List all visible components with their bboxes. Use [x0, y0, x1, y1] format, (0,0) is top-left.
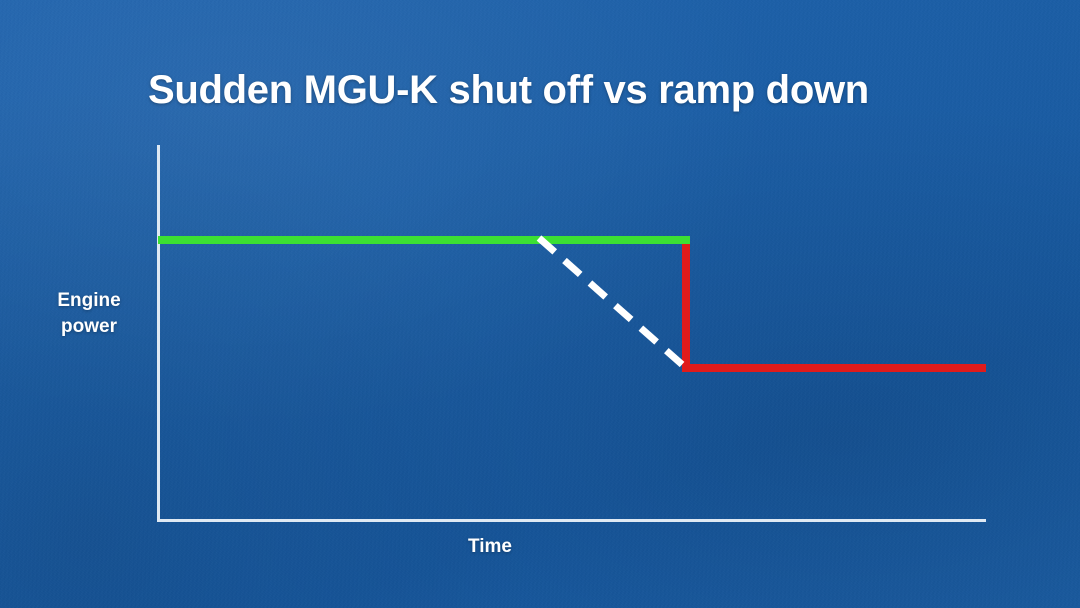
axis-lines — [157, 145, 986, 521]
chart-plot-area — [0, 0, 1080, 608]
series-ramp-down-steps — [537, 240, 690, 368]
series-sudden-shutoff — [682, 238, 986, 368]
slide-canvas: Sudden MGU-K shut off vs ramp down Engin… — [0, 0, 1080, 608]
